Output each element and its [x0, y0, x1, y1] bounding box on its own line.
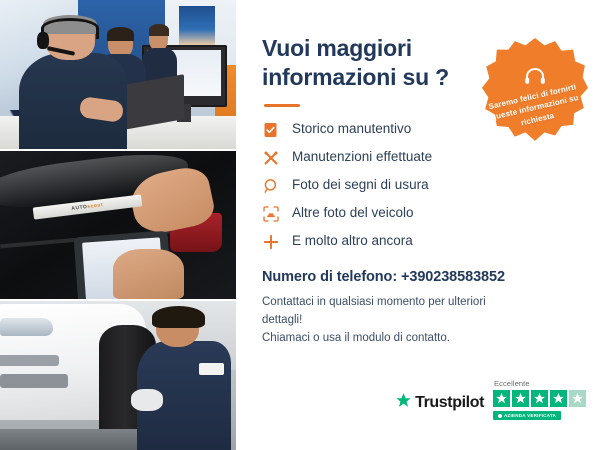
list-item-label: Altre foto del veicolo — [292, 205, 414, 221]
rating-star-partial — [569, 390, 586, 407]
technician-badge — [199, 363, 224, 374]
crossed-tools-icon — [262, 149, 279, 166]
headset-icon — [524, 67, 546, 90]
phone-line: Numero di telefono: +390238583852 — [262, 269, 578, 285]
ruler-brand-right: scout — [87, 202, 103, 210]
list-item: Storico manutentivo — [262, 121, 502, 138]
vehicle-lift — [0, 429, 146, 450]
trustpilot-stars — [493, 390, 586, 407]
list-item: Manutenzioni effettuate — [262, 149, 502, 166]
trustpilot-logo: Trustpilot — [395, 392, 484, 420]
verified-check-icon — [498, 414, 502, 418]
list-item-label: Manutenzioni effettuate — [292, 149, 432, 165]
list-item: Foto dei segni di usura — [262, 177, 502, 194]
feature-list: Storico manutentivo Manutenzioni effettu… — [262, 121, 502, 250]
trustpilot-rating: Eccellente — [493, 379, 586, 420]
trustpilot-star-icon — [395, 392, 412, 414]
callout-badge: Saremo felici di fornirti queste informa… — [482, 38, 588, 144]
wall-poster — [179, 6, 214, 45]
verified-label: AZIENDA VERIFICATA — [504, 413, 556, 418]
rating-star — [531, 390, 548, 407]
agent-one — [19, 18, 128, 149]
list-item-label: Storico manutentivo — [292, 121, 411, 137]
list-item-label: E molto altro ancora — [292, 233, 413, 249]
list-item: E molto altro ancora — [262, 233, 502, 250]
inspector-hand-lower — [113, 249, 184, 300]
vehicle-inspection-photo: AUTOscout — [0, 151, 236, 300]
trustpilot-rating-label: Eccellente — [494, 379, 530, 388]
magnifier-icon — [262, 177, 279, 194]
technician-hair — [152, 306, 205, 328]
trustpilot-wordmark: Trustpilot — [415, 394, 484, 412]
car-scan-icon — [262, 205, 279, 222]
list-item: Altre foto del veicolo — [262, 205, 502, 222]
car-headlight — [0, 318, 53, 335]
photo-column: AUTOscout — [0, 0, 236, 450]
car-grille-upper — [0, 355, 59, 365]
contact-line-1: Contattaci in qualsiasi momento per ulte… — [262, 296, 486, 326]
ruler-brand-left: AUTO — [71, 204, 88, 212]
headset-band — [41, 18, 100, 39]
technician — [137, 310, 231, 450]
page-title: Vuoi maggiori informazioni su ? — [262, 34, 472, 91]
trustpilot-widget[interactable]: Trustpilot Eccellente — [395, 379, 586, 420]
title-divider — [264, 104, 300, 107]
clipboard-check-icon — [262, 121, 279, 138]
phone-label: Numero di telefono: — [262, 269, 397, 285]
contact-instructions: Contattaci in qualsiasi momento per ulte… — [262, 294, 522, 347]
plus-icon — [262, 233, 279, 250]
rating-star — [493, 390, 510, 407]
technician-glove — [131, 389, 163, 411]
agent-three-hair — [149, 24, 170, 36]
rating-star — [512, 390, 529, 407]
promo-banner: AUTOscout Vuoi maggiori in — [0, 0, 600, 450]
list-item-label: Foto dei segni di usura — [292, 177, 429, 193]
car-grille-lower — [0, 374, 68, 388]
content-panel: Vuoi maggiori informazioni su ? Saremo f… — [236, 0, 600, 450]
phone-number[interactable]: +390238583852 — [401, 269, 505, 285]
contact-line-2: Chiamaci o usa il modulo di contatto. — [262, 332, 450, 344]
rating-star — [550, 390, 567, 407]
wheel-inspection-photo — [0, 301, 236, 450]
verified-business-badge: AZIENDA VERIFICATA — [493, 411, 561, 420]
call-center-agents-photo — [0, 0, 236, 149]
